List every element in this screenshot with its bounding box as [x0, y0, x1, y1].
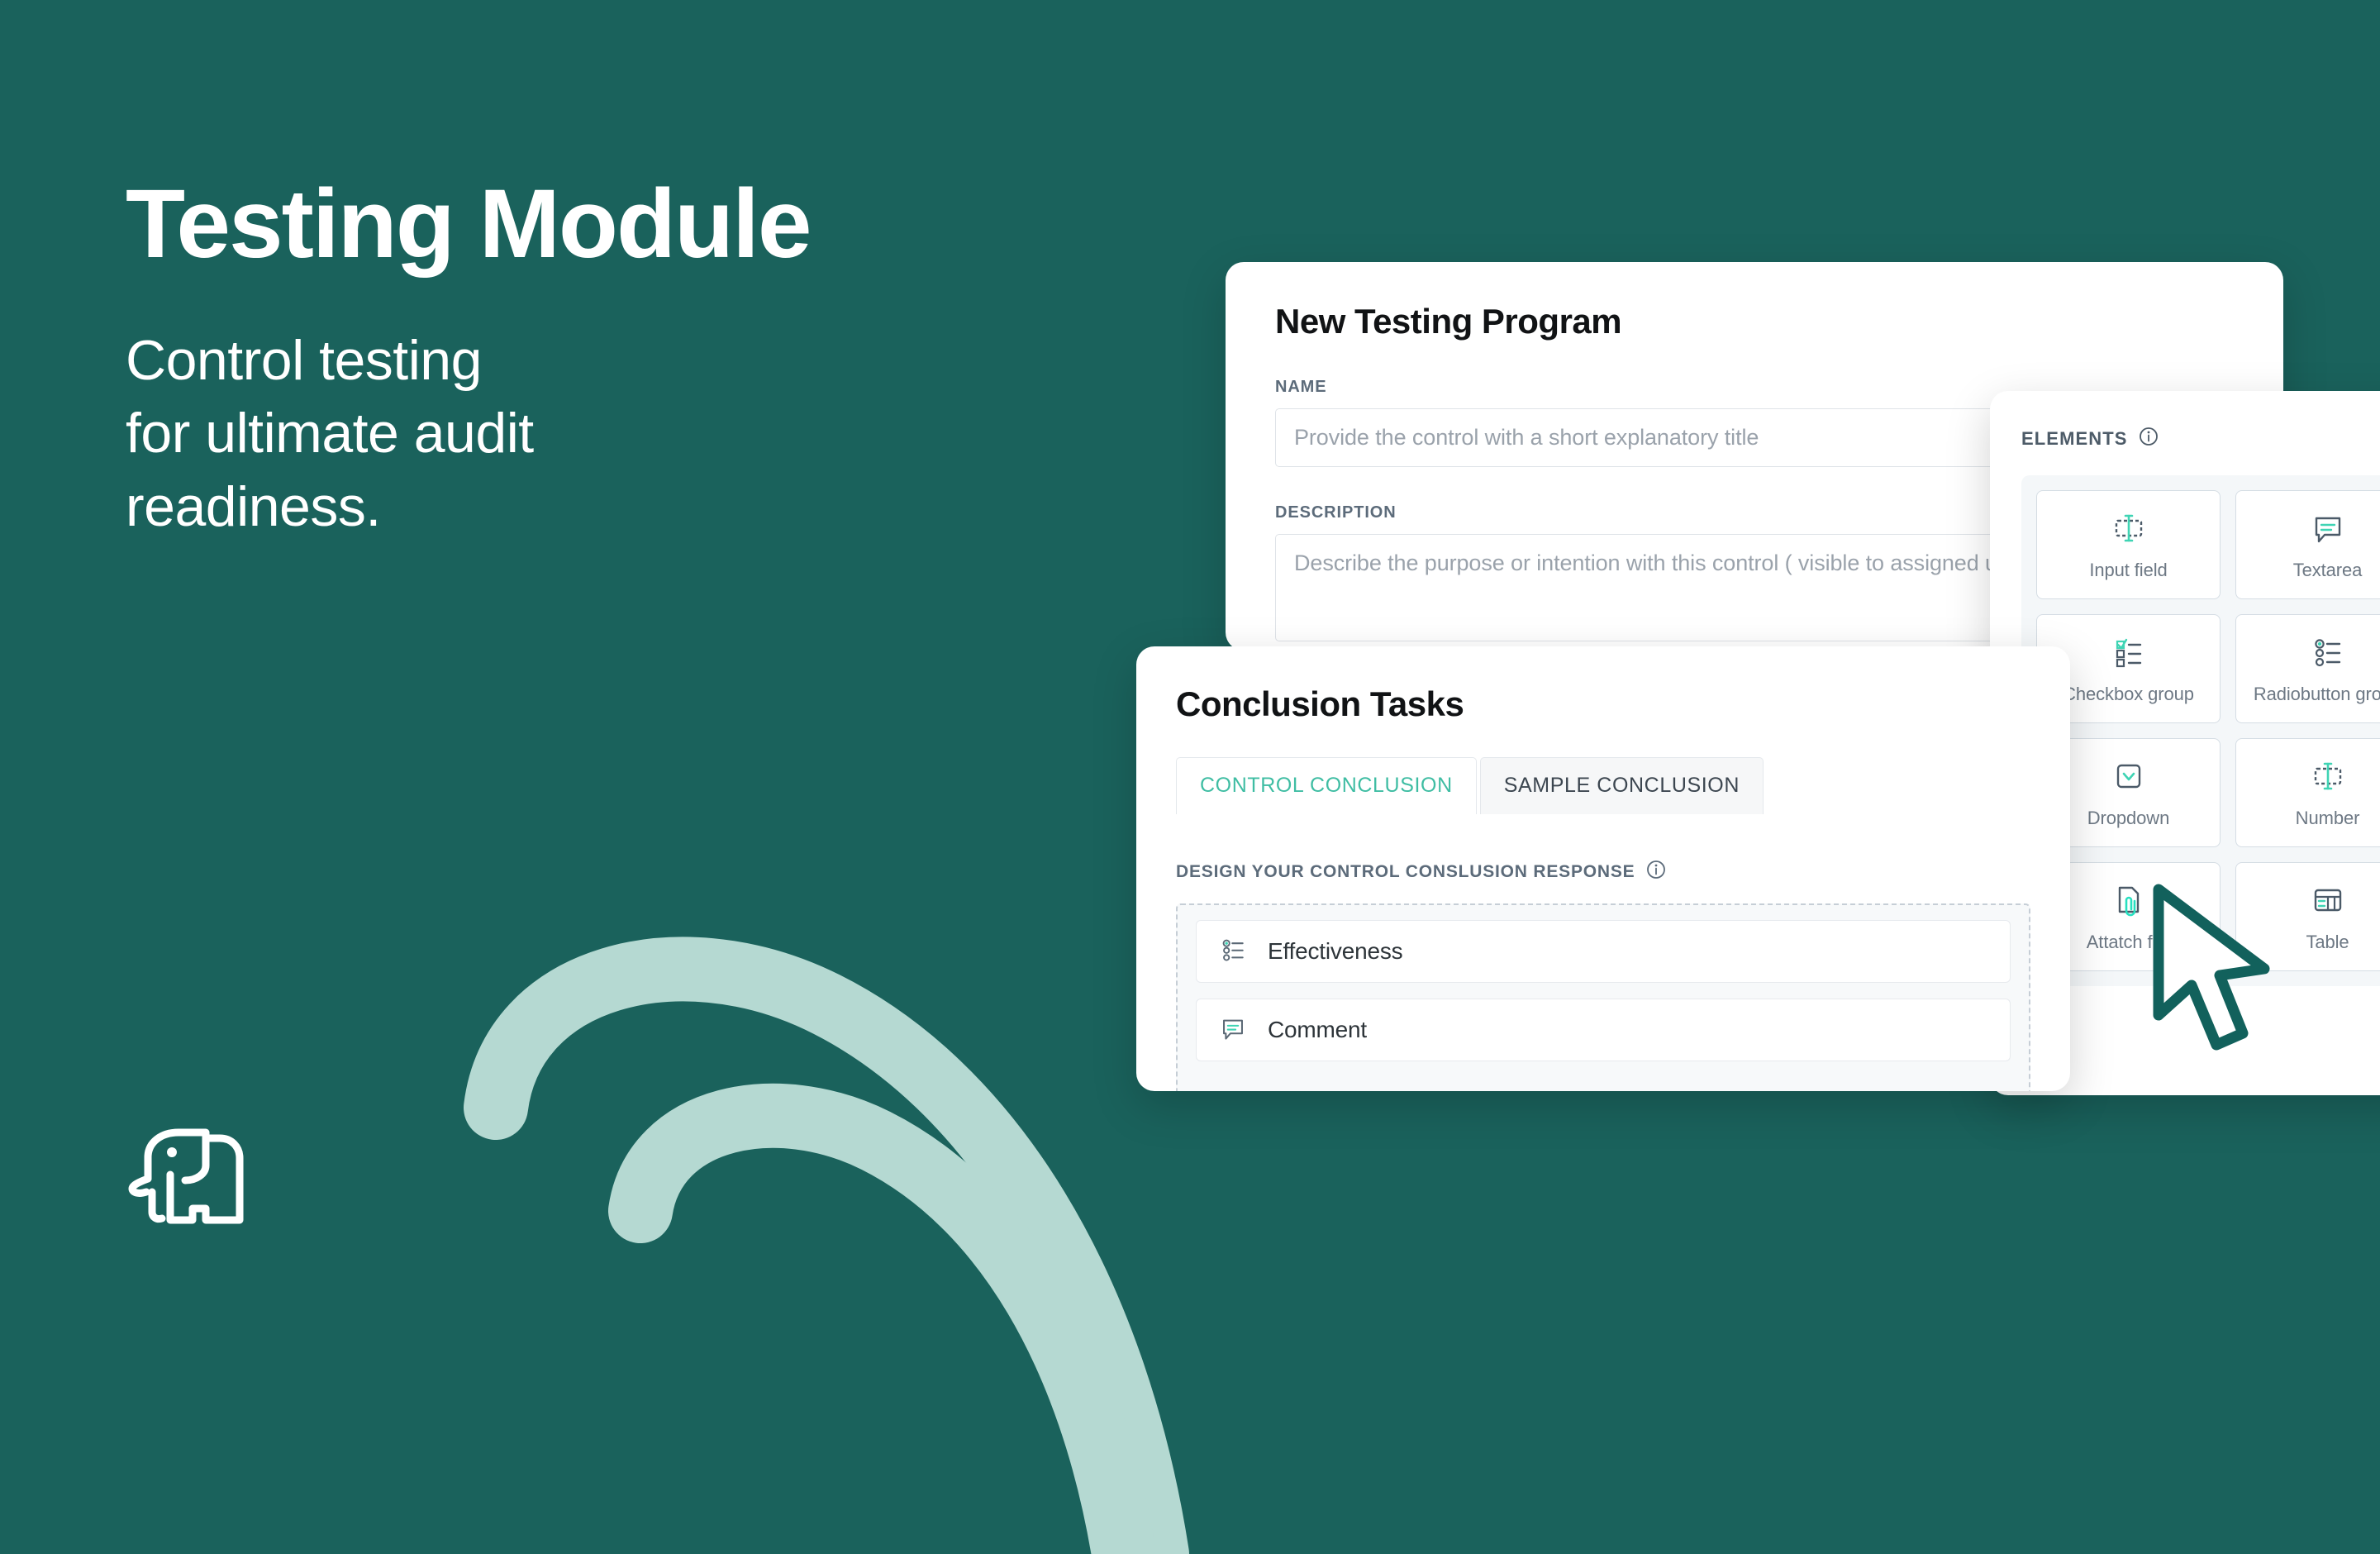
elements-header-label: ELEMENTS	[2021, 428, 2128, 450]
element-tile-label: Textarea	[2293, 560, 2363, 581]
radiobutton-group-icon	[2309, 633, 2347, 675]
element-tile-textarea[interactable]: Textarea	[2235, 490, 2380, 599]
task-label: Effectiveness	[1268, 938, 1402, 965]
element-tile-number[interactable]: Number	[2235, 738, 2380, 847]
checkbox-group-icon	[2110, 633, 2148, 675]
element-tile-label: Radiobutton group	[2254, 684, 2380, 705]
tab-sample-conclusion[interactable]: SAMPLE CONCLUSION	[1480, 757, 1764, 814]
tab-control-conclusion[interactable]: CONTROL CONCLUSION	[1176, 757, 1477, 814]
element-tile-radiobutton-group[interactable]: Radiobutton group	[2235, 614, 2380, 723]
design-response-text: DESIGN YOUR CONTROL CONSLUSION RESPONSE	[1176, 862, 1635, 882]
design-response-label: DESIGN YOUR CONTROL CONSLUSION RESPONSE	[1176, 859, 2030, 885]
mouse-cursor	[2140, 876, 2322, 1075]
element-tile-label: Number	[2296, 808, 2360, 829]
element-tile-label: Checkbox group	[2063, 684, 2194, 705]
number-icon	[2309, 757, 2347, 799]
task-label: Comment	[1268, 1017, 1367, 1043]
conclusion-card-title: Conclusion Tasks	[1176, 684, 2030, 724]
element-tile-label: Input field	[2089, 560, 2167, 581]
conclusion-tasks-card: Conclusion Tasks CONTROL CONCLUSION SAMP…	[1136, 646, 2070, 1091]
input-field-icon	[2110, 509, 2148, 551]
element-tile-label: Dropdown	[2087, 808, 2169, 829]
task-row[interactable]: Effectiveness	[1196, 920, 2011, 983]
hero-subtitle-line-3: readiness.	[126, 470, 1159, 543]
textarea-icon	[2309, 509, 2347, 551]
task-row[interactable]: Comment	[1196, 999, 2011, 1061]
info-icon[interactable]	[1645, 859, 1667, 885]
hero-section: Testing Module Control testing for ultim…	[126, 174, 1159, 543]
dropdown-icon	[2110, 757, 2148, 799]
page-title: Testing Module	[126, 174, 1159, 276]
textarea-icon	[1218, 1013, 1248, 1047]
hero-subtitle-line-1: Control testing	[126, 324, 1159, 397]
elephant-logo	[124, 1123, 250, 1228]
conclusion-tabs: CONTROL CONCLUSION SAMPLE CONCLUSION	[1176, 757, 2030, 814]
elements-panel-header: ELEMENTS	[2021, 426, 2380, 452]
element-tile-input-field[interactable]: Input field	[2036, 490, 2221, 599]
hero-subtitle-line-2: for ultimate audit	[126, 397, 1159, 470]
program-card-title: New Testing Program	[1275, 302, 2234, 341]
response-dropzone[interactable]: Effectiveness Comment	[1176, 903, 2030, 1091]
hero-subtitle: Control testing for ultimate audit readi…	[126, 324, 1159, 543]
radiobutton-group-icon	[1218, 935, 1248, 969]
info-icon[interactable]	[2138, 426, 2159, 452]
